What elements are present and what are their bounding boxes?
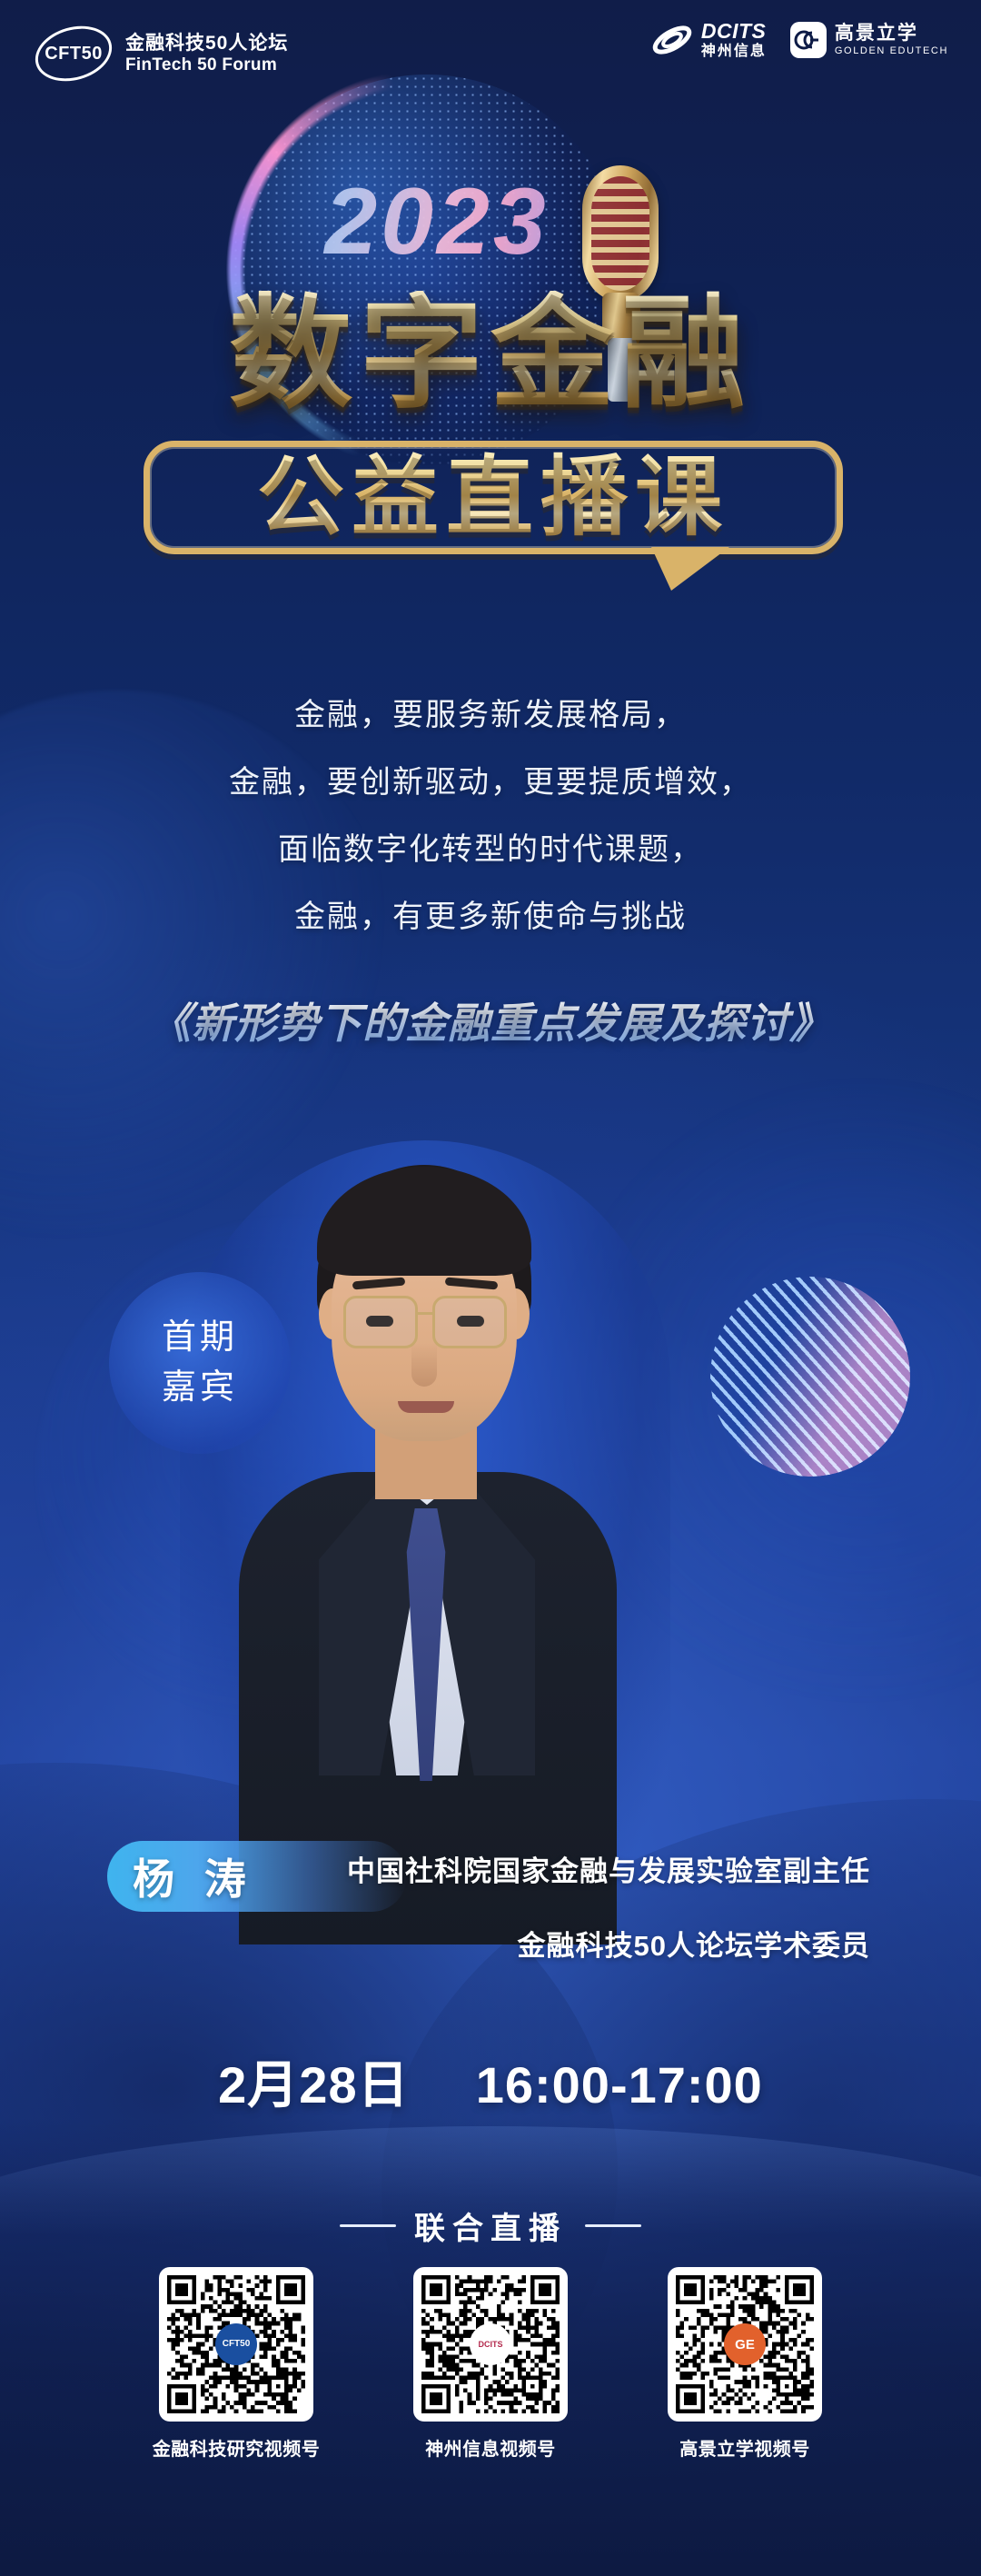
qr-center-logo-dcits: DCITS	[470, 2323, 511, 2365]
hero-title-line2: 公益直播课	[144, 443, 843, 553]
speaker-name: 杨 涛	[133, 1841, 255, 1912]
cft50-ring-icon: CFT50	[35, 27, 113, 80]
first-guest-badge: 首期 嘉宾	[109, 1272, 291, 1454]
joint-broadcast-label: 联合直播	[414, 2203, 567, 2248]
qr-item-golden-edutech[interactable]: GE 高景立学视频号	[659, 2267, 831, 2461]
speaker-name-strip: 杨 涛 中国社科院国家金融与发展实验室副主任	[107, 1841, 870, 1912]
golden-edutech-logo: 高景立学 GOLDEN EDUTECH	[790, 22, 948, 58]
qr-center-logo-golden-edutech: GE	[724, 2323, 766, 2365]
qr-label-dcits: 神州信息视频号	[425, 2434, 556, 2461]
dcits-name-en: DCITS	[701, 20, 767, 44]
golden-edutech-icon	[790, 22, 827, 58]
qr-code-cft50[interactable]: CFT50	[159, 2267, 313, 2422]
qr-code-golden-edutech[interactable]: GE	[668, 2267, 822, 2422]
slogan-line-1: 金融，要服务新发展格局，	[0, 700, 981, 731]
dcits-swirl-icon	[651, 22, 693, 58]
golden-edutech-name-en: GOLDEN EDUTECH	[835, 45, 948, 57]
session-date: 2月28日	[218, 2056, 409, 2114]
first-guest-badge-line1: 首期	[162, 1313, 238, 1363]
cft50-name-en: FinTech 50 Forum	[125, 55, 288, 75]
qr-code-dcits[interactable]: DCITS	[413, 2267, 568, 2422]
slogan-line-4: 金融，有更多新使命与挑战	[0, 901, 981, 932]
cft50-logo-text: CFT50	[35, 27, 113, 80]
cft50-name-cn: 金融科技50人论坛	[125, 32, 288, 55]
qr-code-row: CFT50 金融科技研究视频号 DCITS 神州信息视频号 GE 高景立学视频号	[0, 2267, 981, 2461]
qr-label-golden-edutech: 高景立学视频号	[679, 2434, 810, 2461]
poster-canvas: CFT50 金融科技50人论坛 FinTech 50 Forum DCITS 神…	[0, 0, 981, 2576]
speaker-portrait	[223, 1152, 631, 1943]
speaker-role-line1: 中国社科院国家金融与发展实验室副主任	[347, 1848, 870, 1889]
qr-label-cft50: 金融科技研究视频号	[153, 2434, 321, 2461]
partner-logos: DCITS 神州信息 高景立学 GOLDEN EDUTECH	[651, 20, 948, 60]
slogan-line-2: 金融，要创新驱动，更要提质增效，	[0, 767, 981, 798]
cft50-logo: CFT50 金融科技50人论坛 FinTech 50 Forum	[35, 27, 288, 80]
dcits-name-cn: 神州信息	[701, 44, 767, 60]
divider-left	[340, 2224, 396, 2227]
speaker-role-line2: 金融科技50人论坛学术委员	[107, 1923, 870, 1964]
striped-circle-decoration	[710, 1277, 910, 1477]
divider-right	[585, 2224, 641, 2227]
slogan-block: 金融，要服务新发展格局， 金融，要创新驱动，更要提质增效， 面临数字化转型的时代…	[0, 700, 981, 969]
slogan-line-3: 面临数字化转型的时代课题，	[0, 834, 981, 865]
session-datetime: 2月28日 16:00-17:00	[0, 2044, 981, 2118]
golden-edutech-name-cn: 高景立学	[835, 23, 948, 45]
session-topic-title: 《新形势下的金融重点发展及探讨》	[0, 990, 981, 1050]
hero-title-line1: 数字金融	[0, 291, 981, 417]
qr-item-cft50[interactable]: CFT50 金融科技研究视频号	[150, 2267, 322, 2461]
dcits-logo: DCITS 神州信息	[651, 20, 767, 60]
session-time: 16:00-17:00	[476, 2056, 763, 2114]
qr-item-dcits[interactable]: DCITS 神州信息视频号	[404, 2267, 577, 2461]
first-guest-badge-line2: 嘉宾	[162, 1363, 238, 1413]
joint-broadcast-header: 联合直播	[0, 2203, 981, 2248]
qr-center-logo-cft50: CFT50	[215, 2323, 257, 2365]
